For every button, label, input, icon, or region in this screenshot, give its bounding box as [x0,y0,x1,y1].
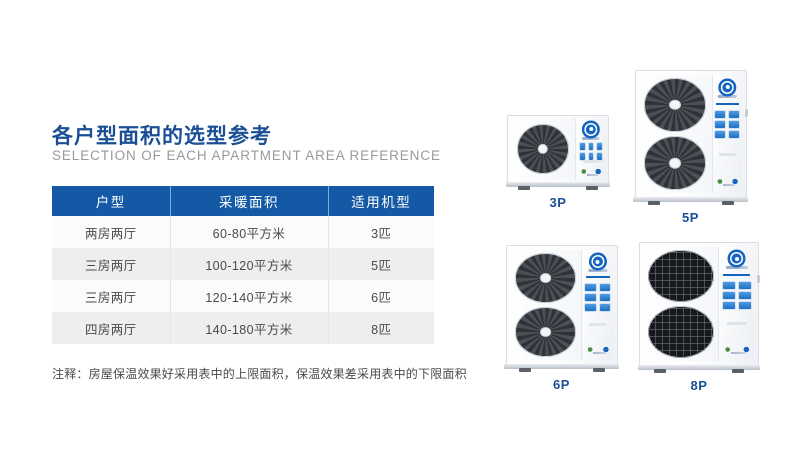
cell-heating-area: 100-120平方米 [170,248,328,280]
button-grid [580,143,602,160]
panel-text-strip [583,160,599,163]
cell-heating-area: 60-80平方米 [170,216,328,248]
panel-button [715,131,725,138]
panel-button [597,153,602,160]
fan-icon [515,253,577,303]
unit-body [636,71,746,197]
panel-button [729,131,739,138]
fan-area [510,250,583,361]
product-cell-6p: 6P [494,245,629,392]
product-label-6p: 6P [494,377,629,392]
fan-area [639,75,713,193]
panel-button [723,292,735,299]
unit-foot [732,369,744,373]
fan-icon [517,124,569,175]
fan-grille-icon [648,250,714,302]
unit-foot [654,369,666,373]
column-header-model: 适用机型 [328,186,434,216]
button-grid [723,282,751,309]
control-panel [582,250,613,361]
unit-body [508,116,608,182]
fan-area [644,247,720,362]
outdoor-unit-image-5p [635,70,747,198]
panel-button [729,121,739,128]
certification-logos-icon [717,177,738,186]
page-title: 各户型面积的选型参考 [52,120,272,150]
fan-icon [515,307,577,357]
text-panel: 各户型面积的选型参考 SELECTION OF EACH APARTMENT A… [0,0,480,456]
panel-button [585,294,595,301]
panel-divider [716,103,739,105]
control-panel [713,75,743,193]
panel-text-strip [727,322,747,325]
panel-button [580,153,585,160]
table-header-row: 户型 采暖面积 适用机型 [52,186,434,216]
cell-model: 3匹 [328,216,434,248]
panel-button [585,304,595,311]
product-cell-3p: 3P [498,115,618,210]
panel-text-strip [719,153,736,156]
brand-logo-icon [718,81,736,98]
table-row: 两房两厅 60-80平方米 3匹 [52,216,434,248]
cell-apartment-type: 两房两厅 [52,216,170,248]
panel-button [597,143,602,150]
panel-button [589,153,594,160]
outdoor-unit-image-3p [507,115,609,183]
column-header-apartment-type: 户型 [52,186,170,216]
cell-heating-area: 140-180平方米 [170,312,328,344]
panel-button [723,282,735,289]
outdoor-unit-image-8p [639,242,759,366]
panel-button [600,294,610,301]
brand-logo-icon [582,123,599,140]
cell-model: 5匹 [328,248,434,280]
product-label-3p: 3P [498,195,618,210]
outdoor-unit-image-6p [506,245,618,365]
panel-divider [723,274,750,276]
panel-button [723,302,735,309]
certification-logos-icon [587,345,609,354]
product-label-8p: 8P [629,378,769,393]
unit-foot [519,368,531,372]
cell-apartment-type: 三房两厅 [52,280,170,312]
table-note: 注释：房屋保温效果好采用表中的上限面积，保温效果差采用表中的下限面积 [52,365,467,382]
panel-button [739,292,751,299]
product-cell-8p: 8P [629,242,769,393]
panel-button [589,143,594,150]
control-panel [577,118,605,180]
brand-logo-icon [588,255,607,272]
unit-foot [648,201,660,205]
fan-grille-icon [648,306,714,358]
panel-button [739,302,751,309]
panel-button [715,111,725,118]
unit-foot [593,368,605,372]
panel-divider [586,276,609,278]
unit-foot [518,186,530,190]
panel-button [580,143,585,150]
column-header-heating-area: 采暖面积 [170,186,328,216]
unit-foot [586,186,598,190]
fan-area [511,118,576,180]
table-row: 四房两厅 140-180平方米 8匹 [52,312,434,344]
table-row: 三房两厅 100-120平方米 5匹 [52,248,434,280]
cell-apartment-type: 四房两厅 [52,312,170,344]
certification-logos-icon [724,345,749,354]
unit-body [507,246,617,364]
button-grid [715,111,739,138]
cell-model: 6匹 [328,280,434,312]
panel-button [739,282,751,289]
page-subtitle: SELECTION OF EACH APARTMENT AREA REFEREN… [52,148,441,163]
selection-reference-table: 户型 采暖面积 适用机型 两房两厅 60-80平方米 3匹 三房两厅 100-1… [52,186,434,344]
panel-text-strip [589,323,606,326]
fan-icon [644,78,707,131]
table-row: 三房两厅 120-140平方米 6匹 [52,280,434,312]
side-vent [757,275,760,283]
control-panel [719,247,754,362]
product-label-5p: 5P [623,210,758,225]
panel-button [585,284,595,291]
unit-foot [722,201,734,205]
cell-model: 8匹 [328,312,434,344]
unit-body [640,243,758,365]
side-vent [745,109,748,117]
panel-button [600,304,610,311]
panel-button [600,284,610,291]
certification-logos-icon [581,167,601,176]
cell-heating-area: 120-140平方米 [170,280,328,312]
cell-apartment-type: 三房两厅 [52,248,170,280]
product-image-grid: 3P [480,60,800,420]
brand-logo-icon [726,252,748,269]
fan-icon [644,136,707,189]
panel-button [715,121,725,128]
product-cell-5p: 5P [623,70,758,225]
button-grid [585,284,610,311]
panel-button [729,111,739,118]
